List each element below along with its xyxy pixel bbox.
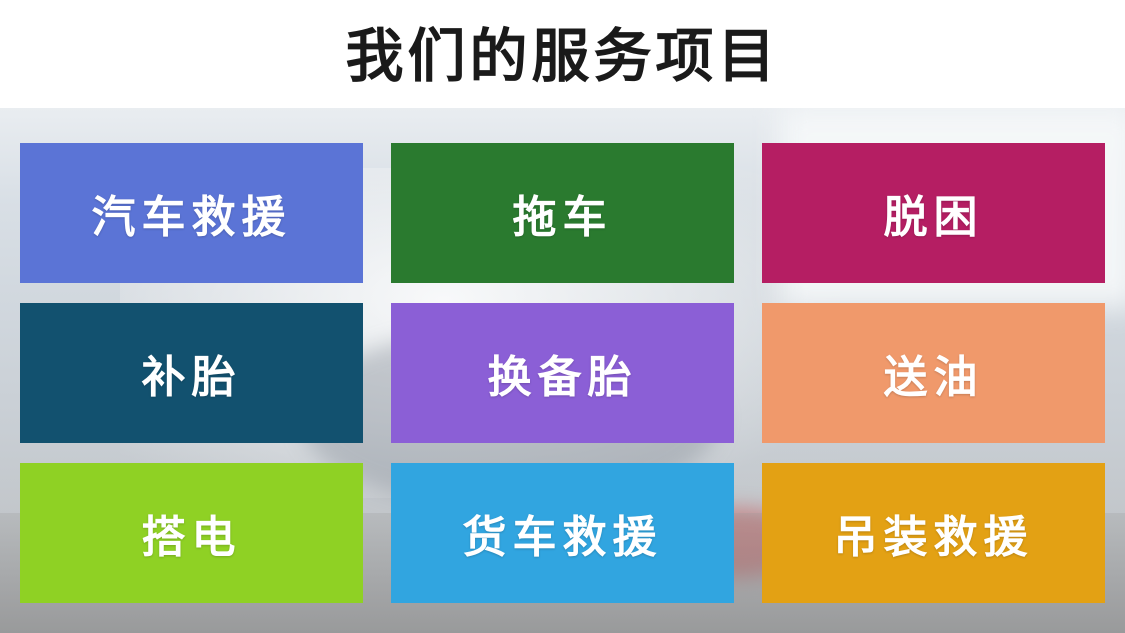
service-tile-roadside-assistance[interactable]: 汽车救援 <box>20 143 363 283</box>
service-tile-label: 吊装救援 <box>834 501 1034 565</box>
service-tile-label: 换备胎 <box>488 341 638 405</box>
service-tile-extrication[interactable]: 脱困 <box>762 143 1105 283</box>
service-tile-label: 补胎 <box>142 341 242 405</box>
service-tile-label: 搭电 <box>142 501 242 565</box>
service-tile-label: 送油 <box>884 341 984 405</box>
service-tile-label: 汽车救援 <box>92 181 292 245</box>
service-tile-fuel-delivery[interactable]: 送油 <box>762 303 1105 443</box>
service-tile-label: 货车救援 <box>463 501 663 565</box>
service-tile-jump-start[interactable]: 搭电 <box>20 463 363 603</box>
service-tile-label: 拖车 <box>513 181 613 245</box>
service-tile-towing[interactable]: 拖车 <box>391 143 734 283</box>
service-tile-truck-rescue[interactable]: 货车救援 <box>391 463 734 603</box>
service-tile-spare-tire-change[interactable]: 换备胎 <box>391 303 734 443</box>
service-tile-crane-rescue[interactable]: 吊装救援 <box>762 463 1105 603</box>
service-poster: 我们的服务项目 汽车救援 拖车 脱困 补胎 换备胎 送油 搭电 货车救援 吊装救… <box>0 0 1125 633</box>
service-tile-label: 脱困 <box>884 181 984 245</box>
page-title: 我们的服务项目 <box>0 18 1125 94</box>
service-tile-tire-repair[interactable]: 补胎 <box>20 303 363 443</box>
service-grid: 汽车救援 拖车 脱困 补胎 换备胎 送油 搭电 货车救援 吊装救援 <box>20 143 1106 603</box>
